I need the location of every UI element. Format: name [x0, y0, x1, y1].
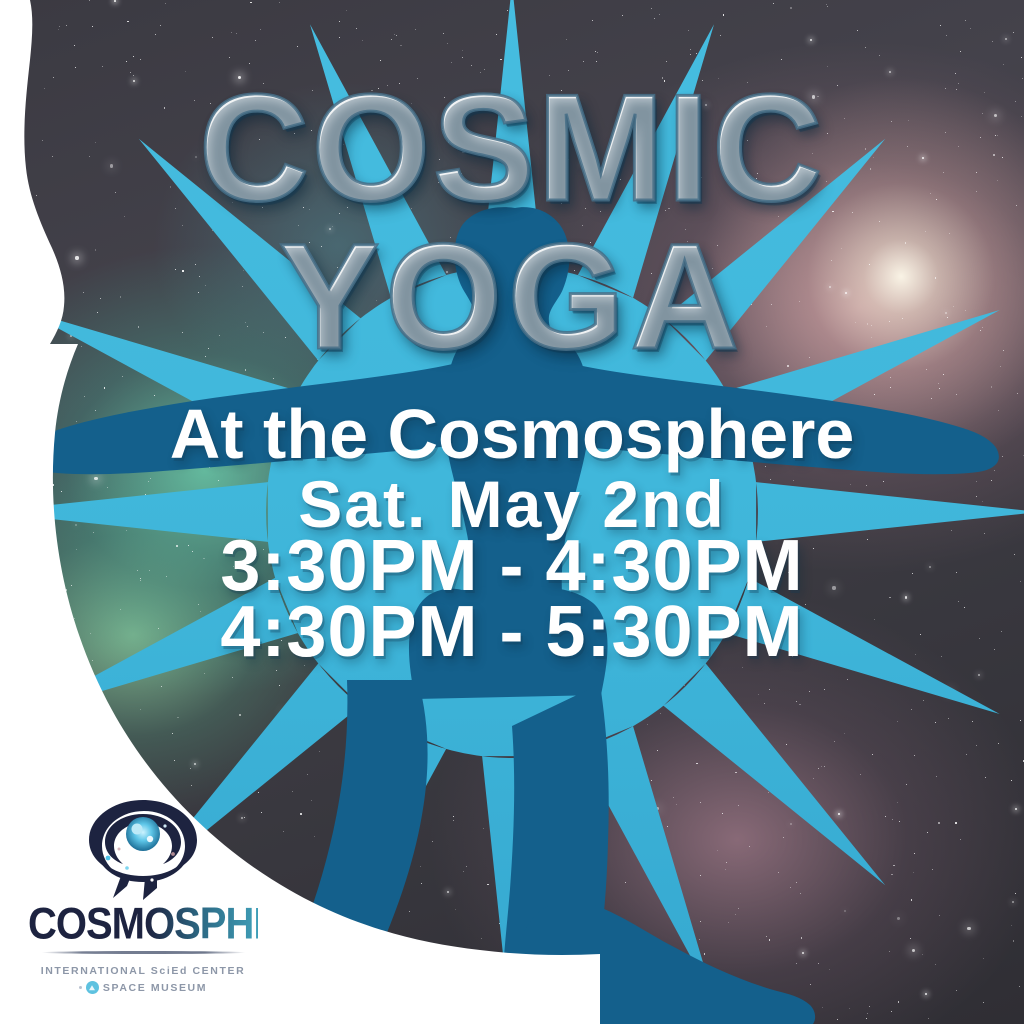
- session-time-1: 3:30PM - 4:30PM: [220, 535, 803, 598]
- title-cosmic: COSMIC COSMIC: [199, 82, 825, 216]
- logo-tagline-line2-row: SPACE MUSEUM: [28, 980, 258, 996]
- cosmosphere-logo: COSMOSPHERE INTERNATIONAL SciEd CENTER S…: [28, 792, 258, 996]
- title-yoga: YOGA YOGA: [279, 230, 745, 362]
- logo-wordmark: COSMOSPHERE: [28, 902, 258, 947]
- title-yoga-text: YOGA: [279, 212, 745, 380]
- spiral-galaxy-icon: [77, 792, 209, 900]
- date-line: Sat. May 2nd: [298, 475, 725, 533]
- session-time-2: 4:30PM - 5:30PM: [220, 601, 803, 664]
- venue-line: At the Cosmosphere: [170, 404, 855, 466]
- logo-tagline-line1: INTERNATIONAL SciEd CENTER: [28, 963, 258, 979]
- logo-tagline: INTERNATIONAL SciEd CENTER SPACE MUSEUM: [28, 963, 258, 996]
- title-cosmic-text: COSMIC: [199, 63, 825, 233]
- rocket-badge-icon: [86, 981, 99, 994]
- logo-divider: [41, 951, 246, 954]
- cosmic-yoga-poster: COSMIC COSMIC YOGA YOGA At the Cosmosphe…: [0, 0, 1024, 1024]
- logo-tagline-line2: SPACE MUSEUM: [103, 980, 207, 996]
- tagline-sparkle-dot: [79, 986, 82, 989]
